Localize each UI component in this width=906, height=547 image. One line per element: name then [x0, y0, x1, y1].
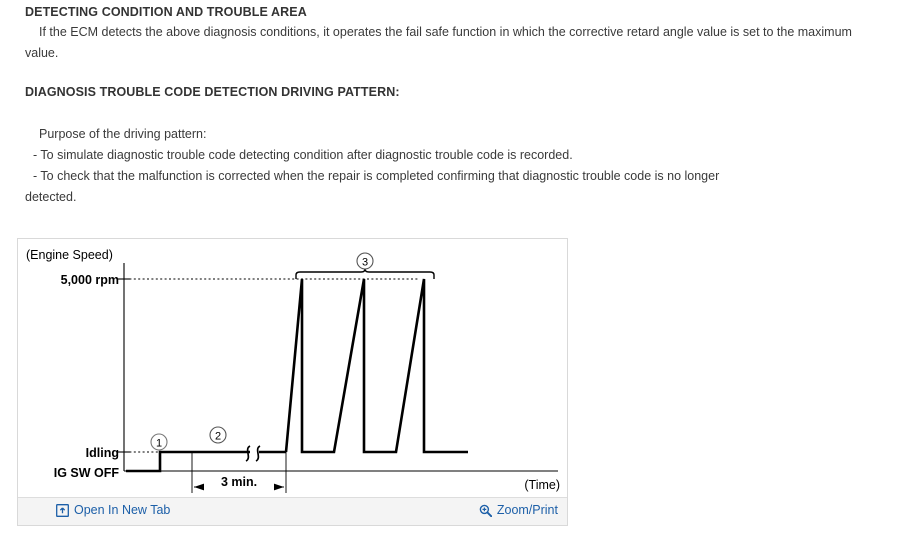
open-in-new-tab-link[interactable]: Open In New Tab [56, 503, 170, 517]
zoom-print-label: Zoom/Print [497, 503, 558, 517]
figure-panel: (Engine Speed) 5,000 rpm Idling IG SW OF… [17, 238, 568, 526]
trace-racing-cycles [286, 279, 468, 452]
zoom-print-link[interactable]: Zoom/Print [479, 503, 558, 517]
y-label-5000-rpm: 5,000 rpm [61, 273, 119, 287]
y-axis-title: (Engine Speed) [26, 248, 113, 262]
marker-3-label: 3 [362, 257, 368, 269]
axis-break-squiggle-left [246, 446, 250, 461]
bracket-marker-3-right [365, 269, 434, 279]
marker-2-label: 2 [215, 431, 221, 443]
purpose-bullet-2: - To check that the malfunction is corre… [25, 166, 887, 187]
open-in-new-tab-icon [56, 504, 69, 517]
purpose-bullet-1: - To simulate diagnostic trouble code de… [25, 145, 887, 166]
y-label-ig-sw-off: IG SW OFF [54, 466, 120, 480]
driving-pattern-chart: (Engine Speed) 5,000 rpm Idling IG SW OF… [18, 239, 567, 496]
axis-break-squiggle-right [256, 446, 260, 461]
dimension-label-3min: 3 min. [221, 475, 257, 489]
section-heading-driving-pattern: DIAGNOSIS TROUBLE CODE DETECTION DRIVING… [25, 85, 400, 99]
trace-idle-start [126, 452, 250, 471]
x-axis-title: (Time) [524, 478, 560, 492]
purpose-bullet-2-continued: detected. [25, 187, 887, 208]
magnifier-plus-icon [479, 504, 492, 517]
paragraph-purpose-list: Purpose of the driving pattern: - To sim… [25, 124, 887, 208]
marker-1-label: 1 [156, 438, 162, 450]
driving-pattern-svg: (Engine Speed) 5,000 rpm Idling IG SW OF… [18, 239, 567, 496]
figure-toolbar: Open In New Tab Zoom/Print [18, 497, 567, 525]
section-heading-detecting-condition: DETECTING CONDITION AND TROUBLE AREA [25, 5, 307, 19]
y-label-idling: Idling [86, 446, 119, 460]
paragraph-fail-safe-description: If the ECM detects the above diagnosis c… [25, 22, 887, 64]
dimension-arrow-left [194, 484, 204, 491]
purpose-intro-line: Purpose of the driving pattern: [25, 124, 887, 145]
bracket-marker-3-left [296, 269, 365, 279]
open-in-new-tab-label: Open In New Tab [74, 503, 170, 517]
dimension-arrow-right [274, 484, 284, 491]
